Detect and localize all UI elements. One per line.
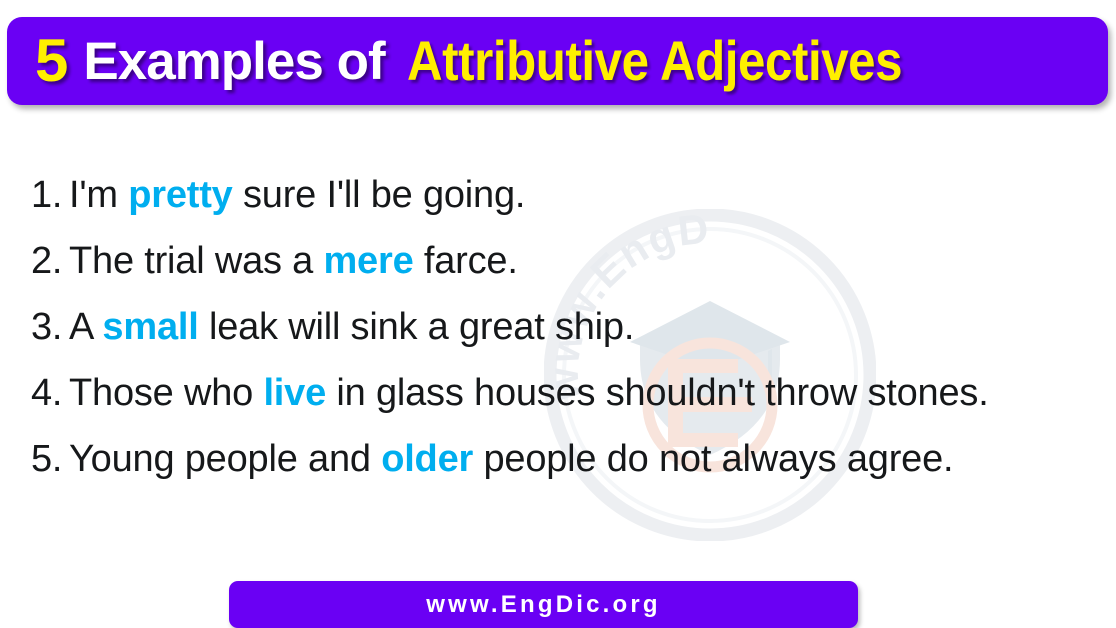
list-item: 5.Young people and older people do not a… — [31, 426, 1091, 492]
plain-text-run: sure I'll be going. — [233, 174, 526, 216]
plain-text-run: leak will sink a great ship. — [199, 306, 635, 348]
website-url: www.EngDic.org — [426, 593, 661, 617]
list-item: 2.The trial was a mere farce. — [31, 228, 1091, 294]
title-lead: Examples of — [83, 35, 406, 88]
list-item-number: 1. — [31, 162, 69, 228]
plain-text-run: farce. — [414, 240, 518, 282]
plain-text-run: people do not always agree. — [473, 438, 953, 480]
plain-text-run: Young people and — [69, 438, 381, 480]
title-count: 5 — [35, 31, 83, 91]
list-item-text: I'm pretty sure I'll be going. — [69, 162, 1091, 228]
plain-text-run: A — [69, 306, 102, 348]
highlighted-adjective: older — [381, 438, 473, 480]
highlighted-adjective: pretty — [128, 174, 232, 216]
highlighted-adjective: small — [102, 306, 198, 348]
title-banner: 5 Examples of Attributive Adjectives — [7, 17, 1108, 105]
list-item-number: 4. — [31, 360, 69, 426]
list-item-number: 2. — [31, 228, 69, 294]
list-item: 1.I'm pretty sure I'll be going. — [31, 162, 1091, 228]
website-banner[interactable]: www.EngDic.org — [229, 581, 858, 628]
title-topic: Attributive Adjectives — [407, 33, 902, 89]
plain-text-run: in glass houses shouldn't throw stones. — [326, 372, 989, 414]
list-item-text: A small leak will sink a great ship. — [69, 294, 1091, 360]
highlighted-adjective: mere — [323, 240, 413, 282]
list-item-text: Young people and older people do not alw… — [69, 426, 1091, 492]
plain-text-run: Those who — [69, 372, 263, 414]
list-item-number: 3. — [31, 294, 69, 360]
list-item-number: 5. — [31, 426, 69, 492]
highlighted-adjective: live — [263, 372, 326, 414]
examples-list: 1.I'm pretty sure I'll be going.2.The tr… — [31, 162, 1091, 492]
list-item: 3.A small leak will sink a great ship. — [31, 294, 1091, 360]
list-item: 4.Those who live in glass houses shouldn… — [31, 360, 1091, 426]
list-item-text: Those who live in glass houses shouldn't… — [69, 360, 1091, 426]
infographic-page: www.EngDic.org 5 Examples of Attributive… — [0, 0, 1116, 628]
list-item-text: The trial was a mere farce. — [69, 228, 1091, 294]
plain-text-run: The trial was a — [69, 240, 323, 282]
plain-text-run: I'm — [69, 174, 128, 216]
